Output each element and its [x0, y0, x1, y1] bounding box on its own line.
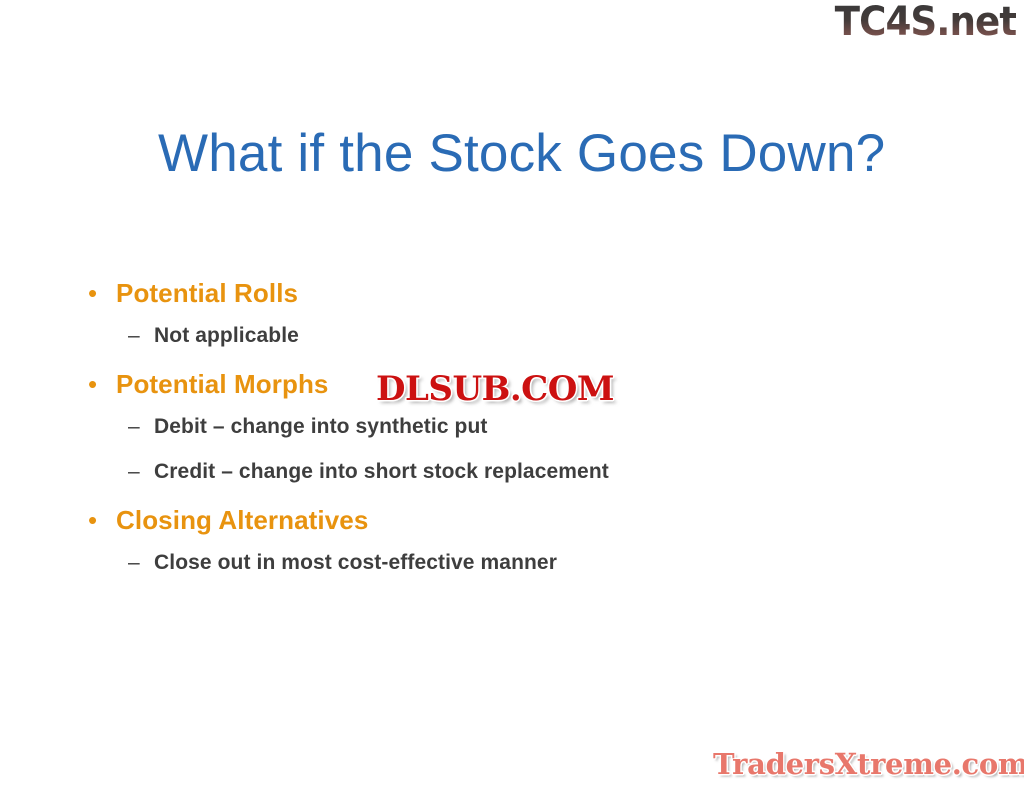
list-item-label: Potential Morphs — [116, 369, 329, 400]
sub-list-item: – Debit – change into synthetic put — [0, 415, 1024, 460]
sub-list-item-label: Debit – change into synthetic put — [154, 415, 488, 439]
list-item-label: Closing Alternatives — [116, 505, 368, 536]
dash-marker-icon: – — [128, 552, 154, 573]
sub-list-item-label: Credit – change into short stock replace… — [154, 460, 609, 484]
tradersxtreme-watermark: TradersXtreme.com — [713, 747, 1024, 781]
dash-marker-icon: – — [128, 461, 154, 482]
dlsub-watermark: DLSUB.COM — [372, 369, 618, 410]
slide-canvas: TC4S.net What if the Stock Goes Down? • … — [0, 0, 1024, 791]
bullet-dot-icon: • — [88, 507, 116, 533]
bullet-dot-icon: • — [88, 280, 116, 306]
list-item: • Closing Alternatives — [0, 505, 1024, 551]
page-title: What if the Stock Goes Down? — [158, 124, 885, 185]
dash-marker-icon: – — [128, 416, 154, 437]
list-item: • Potential Rolls — [0, 278, 1024, 324]
sub-list-item-label: Not applicable — [154, 324, 299, 348]
sub-list-item: – Not applicable — [0, 324, 1024, 369]
bullet-dot-icon: • — [88, 371, 116, 397]
bullet-list: • Potential Rolls – Not applicable • Pot… — [0, 278, 1024, 596]
sub-list-item: – Close out in most cost-effective manne… — [0, 551, 1024, 596]
list-item-label: Potential Rolls — [116, 278, 298, 309]
sub-list-item: – Credit – change into short stock repla… — [0, 460, 1024, 505]
tc4s-brand-logo: TC4S.net — [834, 2, 1016, 42]
dash-marker-icon: – — [128, 325, 154, 346]
sub-list-item-label: Close out in most cost-effective manner — [154, 551, 557, 575]
